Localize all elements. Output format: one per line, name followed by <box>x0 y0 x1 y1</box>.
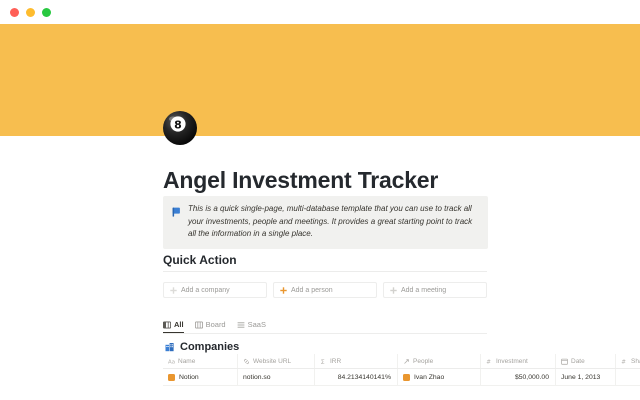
column-header-date[interactable]: Date <box>556 354 616 368</box>
column-header-investment[interactable]: # Investment <box>481 354 556 368</box>
column-header-people[interactable]: People <box>398 354 481 368</box>
quick-action-heading: Quick Action <box>163 253 237 267</box>
svg-text:#: # <box>486 359 491 365</box>
tabs-divider <box>163 333 487 334</box>
cell-name-text: Notion <box>179 374 199 381</box>
column-header-irr-label: IRR <box>330 358 341 365</box>
tab-all[interactable]: All <box>163 320 184 333</box>
zoom-button[interactable] <box>42 8 51 17</box>
list-view-icon <box>237 321 245 329</box>
view-tabs: All Board SaaS <box>163 320 266 333</box>
cell-date-text: June 1, 2013 <box>561 374 600 381</box>
traffic-lights <box>10 8 51 17</box>
add-a-person-button[interactable]: Add a person <box>273 282 377 298</box>
database-title-text: Companies <box>180 341 239 353</box>
cell-people-text: Ivan Zhao <box>414 374 444 381</box>
cell-website-url[interactable]: notion.so <box>238 369 315 385</box>
cell-people[interactable]: Ivan Zhao <box>398 369 481 385</box>
window-titlebar <box>0 0 640 24</box>
svg-text:Σ: Σ <box>321 358 325 365</box>
tab-all-label: All <box>174 320 184 329</box>
column-header-investment-label: Investment <box>496 358 528 365</box>
eight-ball-icon[interactable]: 8 <box>161 109 199 147</box>
add-a-meeting-label: Add a meeting <box>401 287 446 294</box>
quick-action-divider <box>163 271 487 272</box>
column-header-website-url-label: Website URL <box>253 358 291 365</box>
text-type-icon: Aa <box>168 358 175 365</box>
table-view-icon <box>163 321 171 329</box>
column-header-website-url[interactable]: Website URL <box>238 354 315 368</box>
plus-icon <box>280 281 287 299</box>
companies-table: Aa Name Website URL Σ <box>163 354 640 386</box>
cell-irr-text: 84.2134140141% <box>338 374 391 381</box>
cell-date[interactable]: June 1, 2013 <box>556 369 616 385</box>
date-type-icon <box>561 358 568 365</box>
column-header-name-label: Name <box>178 358 195 365</box>
database-title[interactable]: Companies <box>165 341 239 353</box>
board-view-icon <box>195 321 203 329</box>
column-header-people-label: People <box>413 358 433 365</box>
table-header-row: Aa Name Website URL Σ <box>163 354 640 369</box>
minimize-button[interactable] <box>26 8 35 17</box>
relation-type-icon <box>403 358 410 365</box>
tab-saas-label: SaaS <box>248 320 266 329</box>
cell-website-url-text: notion.so <box>243 374 271 381</box>
formula-type-icon: Σ <box>320 358 327 365</box>
cell-investment[interactable]: $50,000.00 <box>481 369 556 385</box>
link-type-icon <box>243 358 250 365</box>
callout-block: This is a quick single-page, multi-datab… <box>163 196 488 249</box>
column-header-irr[interactable]: Σ IRR <box>315 354 398 368</box>
companies-building-icon <box>165 342 175 352</box>
column-header-share-price-label: Share price <box>631 358 640 365</box>
add-a-meeting-button[interactable]: Add a meeting <box>383 282 487 298</box>
svg-text:Aa: Aa <box>168 359 175 365</box>
tab-board[interactable]: Board <box>195 320 226 333</box>
add-a-company-button[interactable]: Add a company <box>163 282 267 298</box>
blue-flag-icon <box>172 204 181 222</box>
quick-action-buttons: Add a company Add a person Add a meeting <box>163 282 493 298</box>
column-header-share-price[interactable]: # Share price <box>616 354 640 368</box>
cell-share-price[interactable] <box>616 369 640 385</box>
person-page-icon <box>403 374 410 381</box>
cell-investment-text: $50,000.00 <box>515 374 549 381</box>
table-row[interactable]: Notion notion.so 84.2134140141% Ivan Zha… <box>163 369 640 386</box>
tab-saas[interactable]: SaaS <box>237 320 266 333</box>
plus-icon <box>390 281 397 299</box>
column-header-name[interactable]: Aa Name <box>163 354 238 368</box>
tab-board-label: Board <box>206 320 226 329</box>
notion-page-icon <box>168 374 175 381</box>
close-button[interactable] <box>10 8 19 17</box>
callout-text: This is a quick single-page, multi-datab… <box>188 203 479 241</box>
add-a-company-label: Add a company <box>181 287 230 294</box>
cell-irr[interactable]: 84.2134140141% <box>315 369 398 385</box>
svg-text:#: # <box>621 359 626 365</box>
number-type-icon: # <box>486 358 493 365</box>
app-window: 8 Angel Investment Tracker This is a qui… <box>0 0 640 400</box>
page-title: Angel Investment Tracker <box>163 166 438 194</box>
plus-icon <box>170 281 177 299</box>
number-type-icon: # <box>621 358 628 365</box>
cell-name[interactable]: Notion <box>163 369 238 385</box>
column-header-date-label: Date <box>571 358 585 365</box>
page-cover-image[interactable] <box>0 24 640 136</box>
add-a-person-label: Add a person <box>291 287 333 294</box>
